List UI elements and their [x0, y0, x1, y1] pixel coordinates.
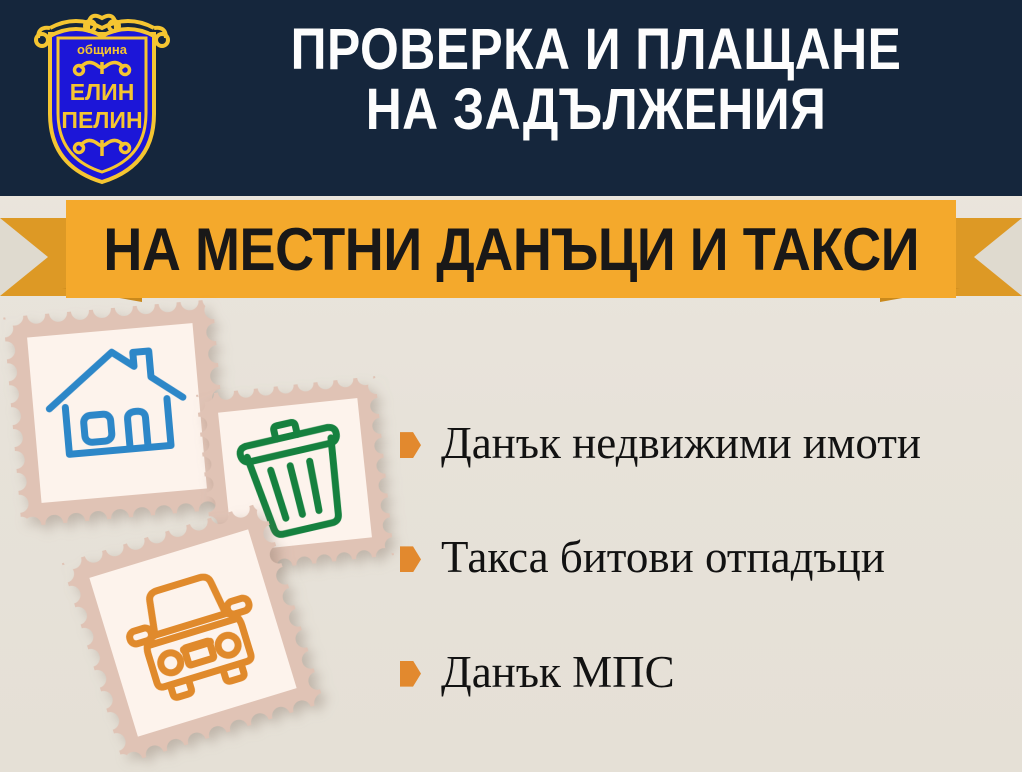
poster-root: община ЕЛИН ПЕЛИН ПРОВЕРКА И ПЛАЩАНЕ НА …: [0, 0, 1022, 772]
arrow-bullet-icon: [400, 661, 421, 687]
crest-text-obshtina: община: [77, 42, 128, 57]
ribbon-label: НА МЕСТНИ ДАНЪЦИ И ТАКСИ: [103, 215, 919, 284]
page-title-line-2: НА ЗАДЪЛЖЕНИЯ: [243, 80, 948, 140]
list-item[interactable]: Такса битови отпадъци: [400, 534, 1010, 581]
list-item-label: Данък МПС: [441, 649, 675, 696]
arrow-bullet-icon: [400, 546, 421, 572]
page-title-line-1: ПРОВЕРКА И ПЛАЩАНЕ: [243, 20, 948, 80]
list-item[interactable]: Данък недвижими имоти: [400, 420, 1010, 467]
arrow-bullet-icon: [400, 432, 421, 458]
crest-text-elin: ЕЛИН: [70, 79, 135, 105]
stamp-real-estate: [3, 299, 231, 527]
list-item[interactable]: Данък МПС: [400, 649, 1010, 696]
stamp-group: [0, 300, 420, 772]
coat-of-arms-icon: община ЕЛИН ПЕЛИН: [28, 6, 176, 186]
list-item-label: Данък недвижими имоти: [441, 420, 921, 467]
ribbon-band: НА МЕСТНИ ДАНЪЦИ И ТАКСИ: [66, 200, 956, 298]
header-bar: община ЕЛИН ПЕЛИН ПРОВЕРКА И ПЛАЩАНЕ НА …: [0, 0, 1022, 196]
subtitle-ribbon: НА МЕСТНИ ДАНЪЦИ И ТАКСИ: [0, 200, 1022, 312]
tax-types-list: Данък недвижими имоти Такса битови отпад…: [400, 420, 1010, 696]
page-title: ПРОВЕРКА И ПЛАЩАНЕ НА ЗАДЪЛЖЕНИЯ: [243, 20, 948, 141]
crest-text-pelin: ПЕЛИН: [61, 107, 142, 133]
list-item-label: Такса битови отпадъци: [441, 534, 885, 581]
